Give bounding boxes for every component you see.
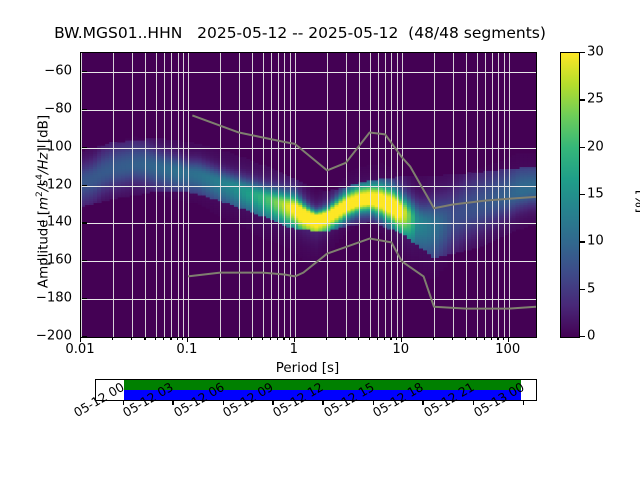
colorbar-tick-mark [580, 194, 585, 195]
ppsd-histogram-canvas [81, 53, 536, 337]
x-tick-mark-minor [384, 337, 385, 340]
x-tick-mark-minor [262, 337, 263, 340]
y-axis-label: Amplitude [m2/s4/Hz] [dB] [37, 52, 52, 352]
page-title: BW.MGS01..HHN 2025-05-12 -- 2025-05-12 (… [0, 24, 600, 42]
colorbar-tick-mark [580, 289, 585, 290]
y-tick-mark [82, 109, 87, 110]
colorbar-tick-label: 0 [587, 329, 595, 344]
y-tick-mark [82, 298, 87, 299]
x-tick-label: 100 [473, 342, 543, 357]
x-tick-mark-minor [497, 337, 498, 340]
x-tick-mark-minor [219, 337, 220, 340]
colorbar-tick-mark [580, 99, 585, 100]
x-tick-mark-minor [177, 337, 178, 340]
timeline-tick-mark [322, 400, 323, 405]
x-tick-mark-minor [163, 337, 164, 340]
x-tick-mark-minor [484, 337, 485, 340]
colorbar-tick-mark [580, 241, 585, 242]
colorbar-tick-mark [580, 336, 585, 337]
colorbar-tick-label: 25 [587, 92, 604, 107]
x-tick-mark-minor [433, 337, 434, 340]
x-tick-label: 0.01 [45, 342, 115, 357]
x-tick-mark-minor [131, 337, 132, 340]
x-tick-mark-minor [238, 337, 239, 340]
x-tick-mark-minor [396, 337, 397, 340]
x-tick-mark-minor [476, 337, 477, 340]
y-tick-mark [82, 336, 87, 337]
x-tick-mark-major [187, 337, 188, 342]
x-tick-mark-major [508, 337, 509, 342]
colorbar[interactable] [560, 52, 580, 338]
colorbar-gradient [561, 53, 579, 337]
x-tick-mark-minor [377, 337, 378, 340]
x-tick-mark-minor [369, 337, 370, 340]
x-tick-mark-minor [390, 337, 391, 340]
x-tick-mark-minor [155, 337, 156, 340]
x-tick-mark-major [294, 337, 295, 342]
x-tick-mark-major [80, 337, 81, 342]
x-tick-mark-minor [289, 337, 290, 340]
y-tick-mark [82, 260, 87, 261]
x-tick-mark-minor [251, 337, 252, 340]
x-tick-mark-minor [170, 337, 171, 340]
x-tick-mark-minor [277, 337, 278, 340]
y-tick-mark [82, 222, 87, 223]
colorbar-tick-label: 15 [587, 187, 604, 202]
x-tick-mark-major [401, 337, 402, 342]
timeline-tick-mark [523, 400, 524, 405]
colorbar-label: [%] [635, 142, 640, 262]
x-tick-mark-minor [358, 337, 359, 340]
ppsd-figure: BW.MGS01..HHN 2025-05-12 -- 2025-05-12 (… [0, 0, 640, 480]
y-tick-mark [82, 147, 87, 148]
x-tick-mark-minor [112, 337, 113, 340]
x-tick-mark-minor [326, 337, 327, 340]
colorbar-tick-label: 30 [587, 45, 604, 60]
colorbar-tick-label: 10 [587, 234, 604, 249]
x-tick-label: 0.1 [152, 342, 222, 357]
colorbar-tick-mark [580, 147, 585, 148]
x-tick-mark-minor [283, 337, 284, 340]
x-tick-mark-minor [270, 337, 271, 340]
ppsd-plot-area[interactable] [80, 52, 537, 338]
x-tick-mark-minor [503, 337, 504, 340]
x-tick-mark-minor [465, 337, 466, 340]
x-tick-mark-minor [452, 337, 453, 340]
y-tick-mark [82, 71, 87, 72]
x-tick-label: 1 [259, 342, 329, 357]
x-tick-mark-minor [182, 337, 183, 340]
x-tick-mark-minor [345, 337, 346, 340]
colorbar-tick-mark [580, 52, 585, 53]
colorbar-tick-label: 20 [587, 139, 604, 154]
x-tick-label: 10 [366, 342, 436, 357]
y-tick-mark [82, 185, 87, 186]
colorbar-tick-label: 5 [587, 281, 595, 296]
timeline-tick-mark [422, 400, 423, 405]
x-axis-label: Period [s] [80, 361, 535, 376]
timeline-tick-mark [172, 400, 173, 405]
y-axis-label-text: Amplitude [m2/s4/Hz] [dB] [37, 115, 52, 288]
timeline-tick-mark [473, 400, 474, 405]
x-tick-mark-minor [144, 337, 145, 340]
x-tick-mark-minor [491, 337, 492, 340]
